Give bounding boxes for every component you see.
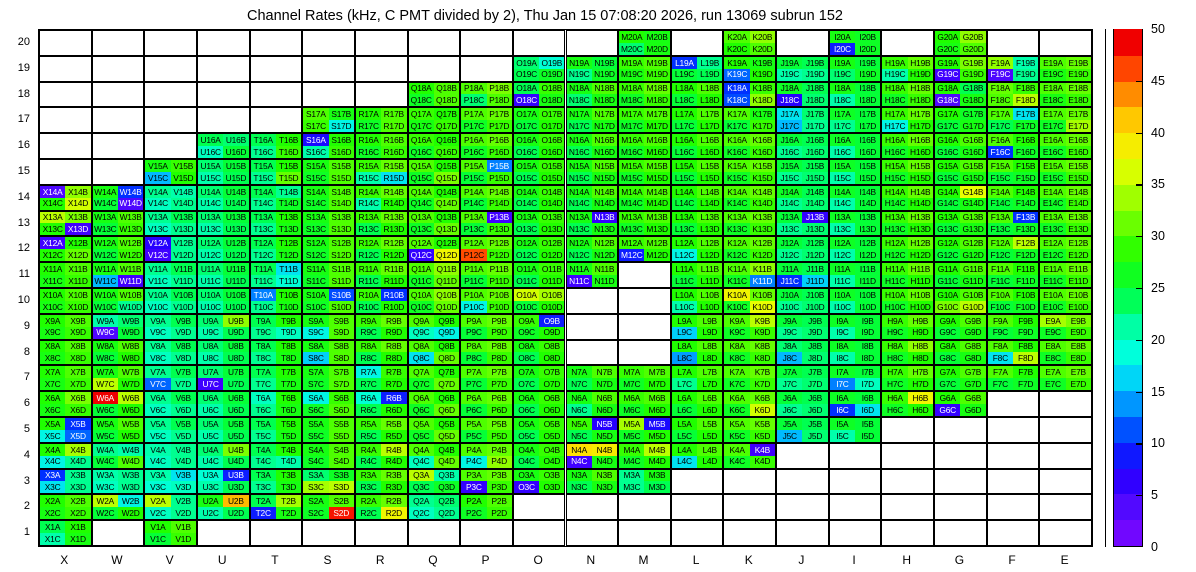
y-tick-17: 17 xyxy=(4,113,30,125)
heatmap-tower-G4 xyxy=(934,443,987,469)
heatmap-tower-N1 xyxy=(566,520,619,546)
channel-O11C: O11C xyxy=(514,275,539,287)
colorbar-tick-35: 35 xyxy=(1151,177,1165,191)
channel-W6C: W6C xyxy=(93,404,118,416)
colorbar-tick-0: 0 xyxy=(1151,540,1158,554)
channel-R15B: R15B xyxy=(381,160,406,172)
channel-T9C: T9C xyxy=(251,327,276,339)
channel-L12C: L12C xyxy=(672,249,697,261)
channel-N12D: N12D xyxy=(592,249,617,261)
page-title: Channel Rates (kHz, C PMT divided by 2),… xyxy=(0,8,1090,24)
heatmap-tower-R14: R14AR14BR14CR14D xyxy=(355,185,408,211)
channel-O14B: O14B xyxy=(539,186,564,198)
channel-J12D: J12D xyxy=(802,249,827,261)
channel-X11D: X11D xyxy=(65,275,90,287)
channel-L15A: L15A xyxy=(672,160,697,172)
channel-O18B: O18B xyxy=(539,83,564,95)
heatmap-tower-H8: H8AH8BH8CH8D xyxy=(881,340,934,366)
channel-F8B: F8B xyxy=(1013,341,1038,353)
channel-X4A: X4A xyxy=(40,444,65,456)
channel-E17B: E17B xyxy=(1066,108,1091,120)
heatmap-tower-N17: N17AN17BN17CN17D xyxy=(566,107,619,133)
heatmap-tower-G5 xyxy=(934,417,987,443)
channel-P18C: P18C xyxy=(461,94,486,106)
channel-F10A: F10A xyxy=(988,289,1013,301)
channel-J10B: J10B xyxy=(802,289,827,301)
channel-G14C: G14C xyxy=(935,198,960,210)
channel-Q17A: Q17A xyxy=(409,108,434,120)
channel-X8C: X8C xyxy=(40,352,65,364)
channel-M3B: M3B xyxy=(644,470,669,482)
channel-G18A: G18A xyxy=(935,83,960,95)
heatmap-tower-I5: I5AI5BI5CI5D xyxy=(829,417,882,443)
channel-N19D: N19D xyxy=(592,69,617,81)
channel-H8A: H8A xyxy=(882,341,907,353)
channel-T4B: T4B xyxy=(276,444,301,456)
channel-N18C: N18C xyxy=(567,94,592,106)
channel-I15D: I15D xyxy=(855,172,880,184)
heatmap-tower-S17: S17AS17BS17CS17D xyxy=(302,107,355,133)
channel-G7B: G7B xyxy=(960,366,985,378)
channel-W8B: W8B xyxy=(118,341,143,353)
channel-I6C: I6C xyxy=(830,404,855,416)
channel-S14B: S14B xyxy=(329,186,354,198)
colorbar-tick-15: 15 xyxy=(1151,385,1165,399)
channel-J8D: J8D xyxy=(802,352,827,364)
channel-I11C: I11C xyxy=(830,275,855,287)
channel-T5A: T5A xyxy=(251,418,276,430)
heatmap-tower-H9: H9AH9BH9CH9D xyxy=(881,314,934,340)
heatmap-tower-Q2: Q2AQ2BQ2CQ2D xyxy=(408,494,461,520)
channel-I6A: I6A xyxy=(830,392,855,404)
channel-S10D: S10D xyxy=(329,301,354,313)
channel-V12C: V12C xyxy=(145,249,170,261)
channel-J16C: J16C xyxy=(777,146,802,158)
channel-U10B: U10B xyxy=(223,289,248,301)
heatmap-tower-I7: I7AI7BI7CI7D xyxy=(829,365,882,391)
channel-W7B: W7B xyxy=(118,366,143,378)
heatmap-tower-V19 xyxy=(144,56,197,82)
channel-K13B: K13B xyxy=(750,212,775,224)
heatmap-tower-P20 xyxy=(460,30,513,56)
channel-N5D: N5D xyxy=(592,430,617,442)
channel-N13B: N13B xyxy=(592,212,617,224)
heatmap-tower-J2 xyxy=(776,494,829,520)
channel-X14B: X14B xyxy=(65,186,90,198)
channel-O8D: O8D xyxy=(539,352,564,364)
heatmap-tower-E6 xyxy=(1039,391,1092,417)
channel-U11D: U11D xyxy=(223,275,248,287)
channel-O12C: O12C xyxy=(514,249,539,261)
channel-K17C: K17C xyxy=(724,120,749,132)
heatmap-tower-F4 xyxy=(987,443,1040,469)
channel-Q5B: Q5B xyxy=(434,418,459,430)
channel-K18D: K18D xyxy=(750,94,775,106)
heatmap-tower-J20 xyxy=(776,30,829,56)
channel-R12C: R12C xyxy=(356,249,381,261)
channel-S15A: S15A xyxy=(303,160,328,172)
channel-S13D: S13D xyxy=(329,223,354,235)
heatmap-tower-U11: U11AU11BU11CU11D xyxy=(197,262,250,288)
heatmap-tower-W10: W10AW10BW10CW10D xyxy=(92,288,145,314)
heatmap-tower-V9: V9AV9BV9CV9D xyxy=(144,314,197,340)
channel-V4A: V4A xyxy=(145,444,170,456)
channel-R7D: R7D xyxy=(381,378,406,390)
channel-P7D: P7D xyxy=(487,378,512,390)
channel-I20C: I20C xyxy=(830,43,855,55)
channel-G18C: G18C xyxy=(935,94,960,106)
channel-I12B: I12B xyxy=(855,237,880,249)
channel-X4C: X4C xyxy=(40,456,65,468)
channel-E16D: E16D xyxy=(1066,146,1091,158)
channel-R14B: R14B xyxy=(381,186,406,198)
heatmap-tower-I6: I6AI6BI6CI6D xyxy=(829,391,882,417)
colorbar-band-3 xyxy=(1114,442,1142,469)
heatmap-tower-S12: S12AS12BS12CS12D xyxy=(302,236,355,262)
heatmap-tower-L1 xyxy=(671,520,724,546)
heatmap-tower-X11: X11AX11BX11CX11D xyxy=(39,262,92,288)
channel-P4D: P4D xyxy=(487,456,512,468)
channel-G19C: G19C xyxy=(935,69,960,81)
channel-U5A: U5A xyxy=(198,418,223,430)
channel-M6C: M6C xyxy=(619,404,644,416)
channel-S4A: S4A xyxy=(303,444,328,456)
heatmap-tower-O8: O8AO8BO8CO8D xyxy=(513,340,566,366)
channel-O6A: O6A xyxy=(514,392,539,404)
channel-X13A: X13A xyxy=(40,212,65,224)
heatmap-tower-O1 xyxy=(513,520,566,546)
channel-G17B: G17B xyxy=(960,108,985,120)
channel-T10A: T10A xyxy=(251,289,276,301)
channel-K16A: K16A xyxy=(724,134,749,146)
channel-P3D: P3D xyxy=(487,481,512,493)
heatmap-tower-R20 xyxy=(355,30,408,56)
channel-I15A: I15A xyxy=(830,160,855,172)
channel-U14D: U14D xyxy=(223,198,248,210)
channel-X10A: X10A xyxy=(40,289,65,301)
channel-H8D: H8D xyxy=(908,352,933,364)
channel-H7D: H7D xyxy=(908,378,933,390)
channel-S6C: S6C xyxy=(303,404,328,416)
channel-N17D: N17D xyxy=(592,120,617,132)
heatmap-tower-U13: U13AU13BU13CU13D xyxy=(197,211,250,237)
heatmap-tower-L14: L14AL14BL14CL14D xyxy=(671,185,724,211)
channel-K10B: K10B xyxy=(750,289,775,301)
channel-M3C: M3C xyxy=(619,481,644,493)
channel-L13C: L13C xyxy=(672,223,697,235)
heatmap-tower-O5: O5AO5BO5CO5D xyxy=(513,417,566,443)
channel-O18C: O18C xyxy=(514,94,539,106)
channel-R14D: R14D xyxy=(381,198,406,210)
channel-L16D: L16D xyxy=(697,146,722,158)
y-tick-2: 2 xyxy=(4,500,30,512)
channel-E14A: E14A xyxy=(1040,186,1065,198)
channel-X12D: X12D xyxy=(65,249,90,261)
channel-H6C: H6C xyxy=(882,404,907,416)
channel-V13A: V13A xyxy=(145,212,170,224)
channel-T12C: T12C xyxy=(251,249,276,261)
channel-U12D: U12D xyxy=(223,249,248,261)
channel-S8D: S8D xyxy=(329,352,354,364)
channel-U4B: U4B xyxy=(223,444,248,456)
channel-H18C: H18C xyxy=(882,94,907,106)
channel-T5C: T5C xyxy=(251,430,276,442)
channel-R14A: R14A xyxy=(356,186,381,198)
channel-H8B: H8B xyxy=(908,341,933,353)
channel-K5A: K5A xyxy=(724,418,749,430)
channel-O16D: O16D xyxy=(539,146,564,158)
heatmap-tower-M13: M13AM13BM13CM13D xyxy=(618,211,671,237)
colorbar-band-13 xyxy=(1114,184,1142,211)
channel-T9B: T9B xyxy=(276,315,301,327)
heatmap-tower-I8: I8AI8BI8CI8D xyxy=(829,340,882,366)
channel-U8A: U8A xyxy=(198,341,223,353)
channel-P16C: P16C xyxy=(461,146,486,158)
channel-I12C: I12C xyxy=(830,249,855,261)
colorbar-band-4 xyxy=(1114,416,1142,443)
channel-J19C: J19C xyxy=(777,69,802,81)
heatmap-tower-G11: G11AG11BG11CG11D xyxy=(934,262,987,288)
channel-Q8D: Q8D xyxy=(434,352,459,364)
heatmap-tower-L9: L9AL9BL9CL9D xyxy=(671,314,724,340)
channel-S13C: S13C xyxy=(303,223,328,235)
channel-V4D: V4D xyxy=(171,456,196,468)
heatmap-tower-V2: V2AV2BV2CV2D xyxy=(144,494,197,520)
channel-W10C: W10C xyxy=(93,301,118,313)
heatmap-tower-O14: O14AO14BO14CO14D xyxy=(513,185,566,211)
channel-U16B: U16B xyxy=(223,134,248,146)
channel-M13D: M13D xyxy=(644,223,669,235)
channel-K17D: K17D xyxy=(750,120,775,132)
heatmap-tower-R7: R7AR7BR7CR7D xyxy=(355,365,408,391)
channel-U8B: U8B xyxy=(223,341,248,353)
heatmap-tower-I3 xyxy=(829,469,882,495)
channel-I20B: I20B xyxy=(855,31,880,43)
channel-F9A: F9A xyxy=(988,315,1013,327)
channel-S12D: S12D xyxy=(329,249,354,261)
channel-P5A: P5A xyxy=(461,418,486,430)
heatmap-tower-P19 xyxy=(460,56,513,82)
channel-W13B: W13B xyxy=(118,212,143,224)
heatmap-tower-E19: E19AE19BE19CE19D xyxy=(1039,56,1092,82)
channel-Q2C: Q2C xyxy=(409,507,434,519)
channel-E15D: E15D xyxy=(1066,172,1091,184)
channel-T9A: T9A xyxy=(251,315,276,327)
heatmap-tower-I1 xyxy=(829,520,882,546)
channel-I5D: I5D xyxy=(855,430,880,442)
heatmap-tower-Q1 xyxy=(408,520,461,546)
channel-T11A: T11A xyxy=(251,263,276,275)
channel-O17A: O17A xyxy=(514,108,539,120)
channel-P16A: P16A xyxy=(461,134,486,146)
channel-L17A: L17A xyxy=(672,108,697,120)
channel-P6D: P6D xyxy=(487,404,512,416)
channel-S15C: S15C xyxy=(303,172,328,184)
channel-P2B: P2B xyxy=(487,495,512,507)
heatmap-tower-T1 xyxy=(250,520,303,546)
channel-O4A: O4A xyxy=(514,444,539,456)
channel-N6D: N6D xyxy=(592,404,617,416)
channel-S2B: S2B xyxy=(329,495,354,507)
channel-W11A: W11A xyxy=(93,263,118,275)
channel-P13B: P13B xyxy=(487,212,512,224)
channel-H18A: H18A xyxy=(882,83,907,95)
heatmap-tower-R19 xyxy=(355,56,408,82)
channel-X4D: X4D xyxy=(65,456,90,468)
channel-Q3D: Q3D xyxy=(434,481,459,493)
channel-J13B: J13B xyxy=(802,212,827,224)
channel-L9D: L9D xyxy=(697,327,722,339)
channel-Q13D: Q13D xyxy=(434,223,459,235)
channel-X14A: X14A xyxy=(40,186,65,198)
channel-N3A: N3A xyxy=(567,470,592,482)
channel-F19B: F19B xyxy=(1013,57,1038,69)
channel-W12D: W12D xyxy=(118,249,143,261)
channel-E9D: E9D xyxy=(1066,327,1091,339)
channel-U13B: U13B xyxy=(223,212,248,224)
heatmap-tower-L7: L7AL7BL7CL7D xyxy=(671,365,724,391)
channel-P2C: P2C xyxy=(461,507,486,519)
channel-Q14C: Q14C xyxy=(409,198,434,210)
channel-L5A: L5A xyxy=(672,418,697,430)
channel-W12B: W12B xyxy=(118,237,143,249)
heatmap-tower-F11: F11AF11BF11CF11D xyxy=(987,262,1040,288)
channel-K17A: K17A xyxy=(724,108,749,120)
channel-R15C: R15C xyxy=(356,172,381,184)
channel-T2A: T2A xyxy=(251,495,276,507)
channel-R4A: R4A xyxy=(356,444,381,456)
heatmap-tower-G14: G14AG14BG14CG14D xyxy=(934,185,987,211)
channel-W13D: W13D xyxy=(118,223,143,235)
channel-R12D: R12D xyxy=(381,249,406,261)
channel-M4C: M4C xyxy=(619,456,644,468)
channel-T13D: T13D xyxy=(276,223,301,235)
channel-O14D: O14D xyxy=(539,198,564,210)
channel-V13C: V13C xyxy=(145,223,170,235)
heatmap-tower-X7: X7AX7BX7CX7D xyxy=(39,365,92,391)
channel-L9A: L9A xyxy=(672,315,697,327)
channel-J10D: J10D xyxy=(802,301,827,313)
channel-E7D: E7D xyxy=(1066,378,1091,390)
heatmap-tower-X15 xyxy=(39,159,92,185)
channel-V14A: V14A xyxy=(145,186,170,198)
channel-K19C: K19C xyxy=(724,69,749,81)
channel-L9B: L9B xyxy=(697,315,722,327)
x-tick-U: U xyxy=(196,553,249,567)
heatmap-tower-L20 xyxy=(671,30,724,56)
channel-G6A: G6A xyxy=(935,392,960,404)
channel-S12B: S12B xyxy=(329,237,354,249)
heatmap-tower-P5: P5AP5BP5CP5D xyxy=(460,417,513,443)
colorbar-tick-labels: 05101520253035404550 xyxy=(1143,29,1193,547)
heatmap-tower-E5 xyxy=(1039,417,1092,443)
heatmap-tower-O17: O17AO17BO17CO17D xyxy=(513,107,566,133)
heatmap-tower-L11: L11AL11BL11CL11D xyxy=(671,262,724,288)
heatmap-tower-E1 xyxy=(1039,520,1092,546)
colorbar-tick-25: 25 xyxy=(1151,281,1165,295)
channel-V10C: V10C xyxy=(145,301,170,313)
heatmap-tower-H15: H15AH15BH15CH15D xyxy=(881,159,934,185)
channel-Q12D: Q12D xyxy=(434,249,459,261)
channel-K7A: K7A xyxy=(724,366,749,378)
channel-M6D: M6D xyxy=(644,404,669,416)
heatmap-tower-I13: I13AI13BI13CI13D xyxy=(829,211,882,237)
heatmap-tower-F14: F14AF14BF14CF14D xyxy=(987,185,1040,211)
channel-W7C: W7C xyxy=(93,378,118,390)
channel-M16C: M16C xyxy=(619,146,644,158)
channel-J16A: J16A xyxy=(777,134,802,146)
channel-G11C: G11C xyxy=(935,275,960,287)
channel-M14C: M14C xyxy=(619,198,644,210)
heatmap-tower-P1 xyxy=(460,520,513,546)
heatmap-tower-K11: K11AK11BK11CK11D xyxy=(723,262,776,288)
heatmap-tower-H12: H12AH12BH12CH12D xyxy=(881,236,934,262)
channel-L5B: L5B xyxy=(697,418,722,430)
channel-P8D: P8D xyxy=(487,352,512,364)
channel-R13A: R13A xyxy=(356,212,381,224)
channel-M16B: M16B xyxy=(644,134,669,146)
heatmap-tower-L6: L6AL6BL6CL6D xyxy=(671,391,724,417)
channel-W9B: W9B xyxy=(118,315,143,327)
heatmap-tower-N14: N14AN14BN14CN14D xyxy=(566,185,619,211)
channel-H12B: H12B xyxy=(908,237,933,249)
channel-F10D: F10D xyxy=(1013,301,1038,313)
heatmap-tower-H19: H19AH19BH19CH19D xyxy=(881,56,934,82)
channel-K9D: K9D xyxy=(750,327,775,339)
channel-F13B: F13B xyxy=(1013,212,1038,224)
channel-J6C: J6C xyxy=(777,404,802,416)
channel-S4D: S4D xyxy=(329,456,354,468)
channel-T10D: T10D xyxy=(276,301,301,313)
channel-O12A: O12A xyxy=(514,237,539,249)
heatmap-tower-L17: L17AL17BL17CL17D xyxy=(671,107,724,133)
channel-L10A: L10A xyxy=(672,289,697,301)
heatmap-tower-V11: V11AV11BV11CV11D xyxy=(144,262,197,288)
heatmap-tower-R11: R11AR11BR11CR11D xyxy=(355,262,408,288)
colorbar-tickmark-30 xyxy=(1136,236,1143,237)
y-tick-5: 5 xyxy=(4,423,30,435)
channel-F14B: F14B xyxy=(1013,186,1038,198)
channel-P9D: P9D xyxy=(487,327,512,339)
channel-M7D: M7D xyxy=(644,378,669,390)
channel-O17C: O17C xyxy=(514,120,539,132)
channel-F12C: F12C xyxy=(988,249,1013,261)
channel-M13A: M13A xyxy=(619,212,644,224)
channel-P17C: P17C xyxy=(461,120,486,132)
channel-J11D: J11D xyxy=(802,275,827,287)
channel-R9A: R9A xyxy=(356,315,381,327)
heatmap-tower-H18: H18AH18BH18CH18D xyxy=(881,82,934,108)
heatmap-tower-E13: E13AE13BE13CE13D xyxy=(1039,211,1092,237)
channel-H16C: H16C xyxy=(882,146,907,158)
heatmap-tower-G9: G9AG9BG9CG9D xyxy=(934,314,987,340)
channel-X9C: X9C xyxy=(40,327,65,339)
heatmap-tower-N15: N15AN15BN15CN15D xyxy=(566,159,619,185)
channel-P11D: P11D xyxy=(487,275,512,287)
channel-W14C: W14C xyxy=(93,198,118,210)
heatmap-tower-K8: K8AK8BK8CK8D xyxy=(723,340,776,366)
channel-I9B: I9B xyxy=(855,315,880,327)
heatmap-tower-U12: U12AU12BU12CU12D xyxy=(197,236,250,262)
channel-U5C: U5C xyxy=(198,430,223,442)
channel-H19B: H19B xyxy=(908,57,933,69)
heatmap-tower-F16: F16AF16BF16CF16D xyxy=(987,133,1040,159)
channel-M18D: M18D xyxy=(644,94,669,106)
channel-F8D: F8D xyxy=(1013,352,1038,364)
channel-S8B: S8B xyxy=(329,341,354,353)
heatmap-tower-P10: P10AP10BP10CP10D xyxy=(460,288,513,314)
y-tick-16: 16 xyxy=(4,139,30,151)
